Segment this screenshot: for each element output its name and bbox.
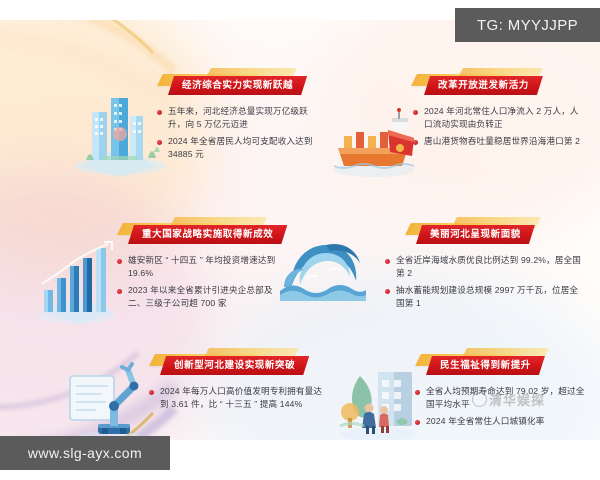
bullet-item: 2024 年全省常住人口城镇化率 — [414, 415, 590, 428]
section-bullets-strategy: 雄安新区 “ 十四五 ” 年均投资增速达到 19.6% 2023 年以来全省累计… — [116, 254, 286, 314]
bullet-item: 2024 年全省居民人均可支配收入达到 34885 元 — [156, 135, 324, 160]
section-title-strategy: 重大国家战略实施取得新成效 — [128, 225, 287, 244]
bullet-item: 全省近岸海域水质优良比例达到 99.2%，居全国第 2 — [384, 254, 584, 279]
bullet-item: 2023 年以来全省累计引进央企总部及二、三级子公司超 700 家 — [116, 284, 286, 309]
section-title-reform: 改革开放迸发新活力 — [424, 76, 543, 95]
bullet-item: 2024 年每万人口高价值发明专利拥有量达到 3.61 件，比 “ 十三五 ” … — [148, 385, 328, 410]
website-url-tag: www.slg-ayx.com — [0, 436, 170, 470]
section-bullets-environment: 全省近岸海域水质优良比例达到 99.2%，居全国第 2 抽水蓄能规划建设总规模 … — [384, 254, 584, 314]
section-title-innovation: 创新型河北建设实现新突破 — [160, 356, 309, 375]
section-bullets-livelihood: 全省人均预期寿命达到 79.02 岁，超过全国平均水平 2024 年全省常住人口… — [414, 385, 590, 433]
section-bullets-economy: 五年来，河北经济总量实现万亿级跃升，向 5 万亿元迈进 2024 年全省居民人均… — [156, 105, 324, 165]
telegram-tag-text: TG: MYYJJPP — [477, 17, 578, 34]
telegram-tag: TG: MYYJJPP — [455, 8, 600, 42]
community-people-icon — [330, 358, 426, 440]
section-title-livelihood: 民生福祉得到新提升 — [426, 356, 545, 375]
bullet-item: 雄安新区 “ 十四五 ” 年均投资增速达到 19.6% — [116, 254, 286, 279]
bar-chart-icon — [28, 238, 124, 330]
section-bullets-innovation: 2024 年每万人口高价值发明专利拥有量达到 3.61 件，比 “ 十三五 ” … — [148, 385, 328, 415]
bullet-item: 唐山港货物吞吐量稳居世界沿海港口第 2 — [412, 135, 584, 148]
section-title-economy: 经济综合实力实现新跃越 — [168, 76, 307, 95]
bullet-item: 全省人均预期寿命达到 79.02 岁，超过全国平均水平 — [414, 385, 590, 410]
robot-arm-icon — [58, 358, 154, 440]
bullet-item: 2024 年河北常住人口净流入 2 万人，人口流动实现由负转正 — [412, 105, 584, 130]
ocean-wave-icon — [272, 223, 370, 311]
bullet-item: 抽水蓄能规划建设总规模 2997 万千瓦，位居全国第 1 — [384, 284, 584, 309]
infographic-poster: 经济综合实力实现新跃越 五年来，河北经济总量实现万亿级跃升，向 5 万亿元迈进 … — [0, 20, 600, 440]
section-bullets-reform: 2024 年河北常住人口净流入 2 万人，人口流动实现由负转正 唐山港货物吞吐量… — [412, 105, 584, 153]
section-title-environment: 美丽河北呈现新面貌 — [416, 225, 535, 244]
bullet-item: 五年来，河北经济总量实现万亿级跃升，向 5 万亿元迈进 — [156, 105, 324, 130]
cargo-ship-icon — [328, 108, 420, 182]
screenshot-root: 经济综合实力实现新跃越 五年来，河北经济总量实现万亿级跃升，向 5 万亿元迈进 … — [0, 0, 600, 480]
website-url-text: www.slg-ayx.com — [28, 445, 142, 461]
